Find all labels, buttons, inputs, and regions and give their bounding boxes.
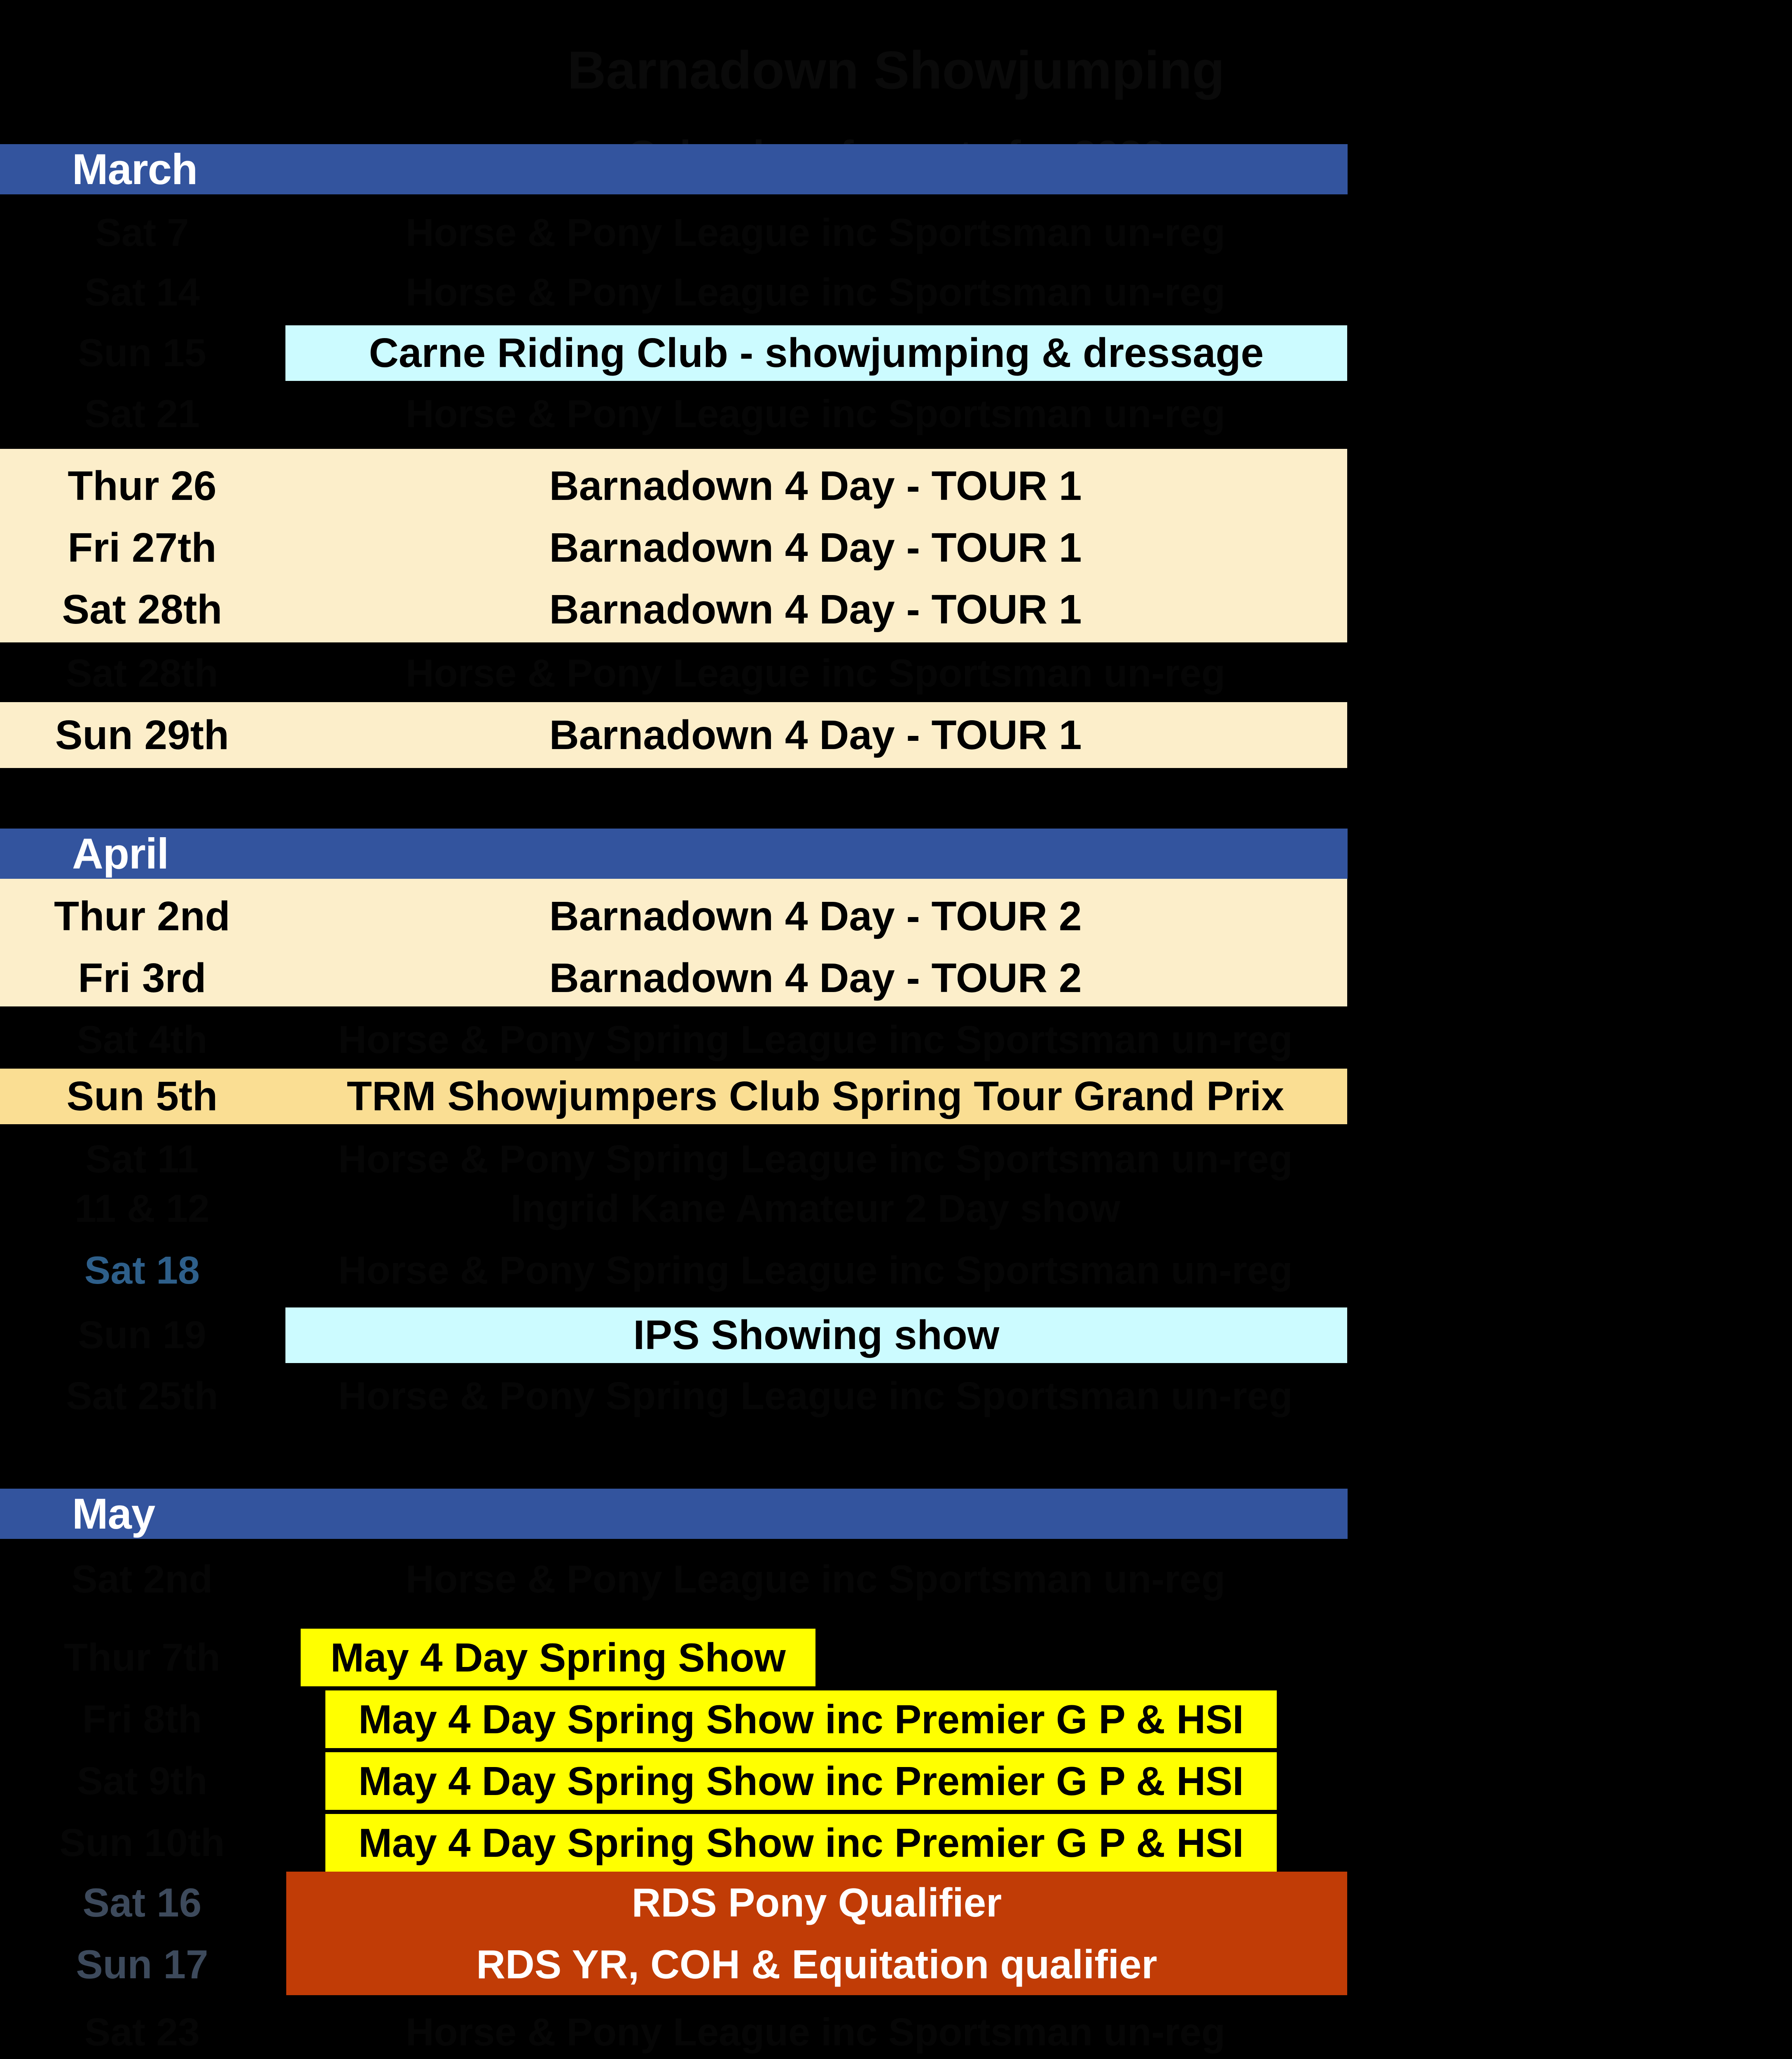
row-date: Sun 10th (0, 1814, 284, 1872)
month-label: March (0, 148, 197, 191)
row-date: Sat 23 (0, 2005, 284, 2059)
row-date: Sun 15 (0, 325, 284, 381)
row-event: Barnadown 4 Day - TOUR 2 (284, 947, 1347, 1009)
month-label: May (0, 1492, 155, 1536)
row-event: Ingrid Kane Amateur 2 Day show (284, 1182, 1347, 1235)
row-date: Fri 8th (0, 1690, 284, 1748)
row-event: TRM Showjumpers Club Spring Tour Grand P… (284, 1069, 1347, 1124)
row-event: Horse & Pony Spring League inc Sportsman… (284, 1369, 1347, 1423)
row-event: Horse & Pony Spring League inc Sportsman… (284, 1132, 1347, 1186)
page-title: Barnadown Showjumping (0, 39, 1792, 101)
row-event: Horse & Pony Spring League inc Sportsman… (284, 1013, 1347, 1067)
row-date: Fri 27th (0, 517, 284, 579)
row-event: May 4 Day Spring Show inc Premier G P & … (325, 1752, 1277, 1810)
row-date: Sat 9th (0, 1752, 284, 1810)
row-event: Horse & Pony League inc Sportsman un-reg (284, 266, 1347, 319)
row-date: Sun 5th (0, 1069, 284, 1124)
row-event: Barnadown 4 Day - TOUR 2 (284, 885, 1347, 947)
row-date: Sun 19 (0, 1307, 284, 1363)
row-date: Sat 4th (0, 1013, 284, 1067)
row-event: Barnadown 4 Day - TOUR 1 (284, 517, 1347, 579)
row-date: Sun 17 (0, 1933, 284, 1995)
row-event: Horse & Pony League inc Sportsman un-reg (284, 1552, 1347, 1606)
row-date: Sat 11 (0, 1132, 284, 1186)
row-event: Barnadown 4 Day - TOUR 1 (284, 455, 1347, 517)
row-date: Sat 21 (0, 387, 284, 441)
row-date: Thur 7th (0, 1629, 284, 1686)
row-date: Sat 2nd (0, 1552, 284, 1606)
row-date: Sat 28th (0, 647, 284, 700)
row-date: 11 & 12 (0, 1182, 284, 1235)
calendar-sheet: Barnadown Showjumping Calendar of events… (0, 0, 1792, 2059)
row-event: Carne Riding Club - showjumping & dressa… (285, 325, 1347, 381)
row-event: Barnadown 4 Day - TOUR 1 (284, 702, 1347, 768)
row-event: Horse & Pony League inc Sportsman un-reg (284, 2005, 1347, 2059)
row-date: Sat 25th (0, 1369, 284, 1423)
row-event: May 4 Day Spring Show inc Premier G P & … (325, 1690, 1277, 1748)
row-date: Sat 28th (0, 579, 284, 640)
month-header-march: March (0, 144, 1348, 194)
row-event: RDS Pony Qualifier (286, 1872, 1347, 1933)
row-event: Horse & Pony League inc Sportsman un-reg (284, 206, 1347, 259)
row-event: RDS YR, COH & Equitation qualifier (286, 1933, 1347, 1995)
month-label: April (0, 832, 168, 875)
row-event: IPS Showing show (285, 1307, 1347, 1363)
row-date: Sat 14 (0, 266, 284, 319)
row-date: Thur 26 (0, 455, 284, 517)
row-event: Horse & Pony League inc Sportsman un-reg (284, 387, 1347, 441)
row-date: Sat 30 (0, 2053, 284, 2059)
row-date: Sat 7 (0, 206, 284, 259)
row-event: May 4 Day Spring Show (301, 1629, 815, 1686)
month-header-may: May (0, 1489, 1348, 1539)
row-event: Barnadown 4 Day - TOUR 1 (284, 579, 1347, 640)
row-event: Horse & Pony League inc Sportsman un-reg (284, 2053, 1347, 2059)
month-header-april: April (0, 829, 1348, 879)
row-event: May 4 Day Spring Show inc Premier G P & … (325, 1814, 1277, 1872)
row-date: Thur 2nd (0, 885, 284, 947)
row-date: Sat 16 (0, 1872, 284, 1933)
row-date: Fri 3rd (0, 947, 284, 1009)
row-event: Horse & Pony League inc Sportsman un-reg (284, 647, 1347, 700)
row-date: Sun 29th (0, 702, 284, 768)
row-date: Sat 18 (0, 1244, 284, 1297)
row-event: Horse & Pony Spring League inc Sportsman… (284, 1244, 1347, 1297)
